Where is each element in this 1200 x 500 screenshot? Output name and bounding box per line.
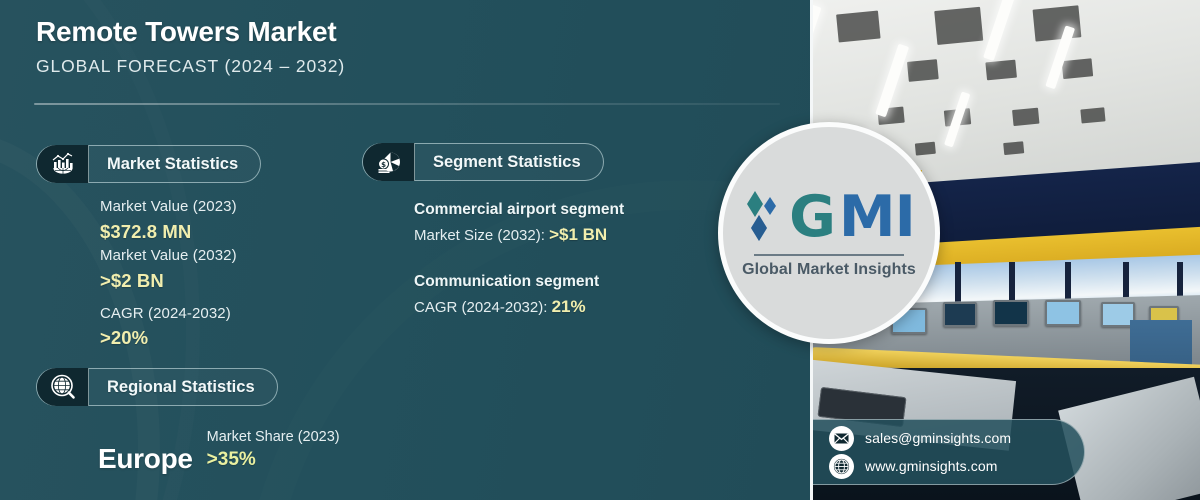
region-metric-group: Market Share (2023) >35%	[207, 428, 340, 473]
segment-metric-label: Market Size (2032):	[414, 227, 549, 244]
gmi-logo: G MI Global Market Insights	[718, 122, 940, 344]
contact-website: www.gminsights.com	[865, 458, 998, 474]
segment-heading: Communication segment	[414, 270, 774, 293]
logo-diamonds-icon	[743, 187, 785, 247]
badge-segment-statistics: $ Segment Statistics	[362, 143, 604, 181]
segment-metric-row: CAGR (2024-2032): 21%	[414, 293, 774, 322]
region-name: Europe	[98, 445, 193, 473]
logo-divider	[754, 254, 904, 256]
globe-magnifier-icon	[37, 368, 89, 406]
bar-chart-globe-icon	[37, 145, 89, 183]
page-title: Remote Towers Market	[36, 14, 776, 49]
pie-chart-money-icon: $	[363, 143, 415, 181]
console-monitor	[993, 300, 1029, 326]
contact-email: sales@gminsights.com	[865, 430, 1011, 446]
logo-letters-mi: MI	[839, 189, 915, 246]
contact-block: sales@gminsights.com www.gminsights.com	[813, 419, 1085, 485]
badge-regional-statistics: Regional Statistics	[36, 368, 278, 406]
region-metric-label: Market Share (2023)	[207, 428, 340, 448]
contact-website-row[interactable]: www.gminsights.com	[829, 454, 1084, 479]
logo-tagline: Global Market Insights	[742, 261, 916, 279]
stat-value: >$2 BN	[100, 268, 237, 295]
header-divider	[34, 103, 780, 105]
logo-wordmark: G MI	[743, 187, 915, 247]
console-monitor	[943, 302, 977, 327]
segment-metric-value: >$1 BN	[549, 225, 607, 244]
console-monitor	[1045, 300, 1081, 326]
badge-market-statistics: Market Statistics	[36, 145, 261, 183]
svg-text:$: $	[381, 161, 386, 169]
globe-icon	[829, 454, 854, 479]
envelope-icon	[829, 426, 854, 451]
contact-email-row[interactable]: sales@gminsights.com	[829, 426, 1084, 451]
stat-value: $372.8 MN	[100, 219, 237, 246]
segment-metric-label: CAGR (2024-2032):	[414, 299, 552, 316]
badge-segment-statistics-label: Segment Statistics	[415, 153, 603, 172]
stat-value: >20%	[100, 325, 237, 352]
market-statistics-list: Market Value (2023) $372.8 MN Market Val…	[100, 196, 237, 352]
segment-metric-value: 21%	[552, 297, 586, 316]
logo-letter-g: G	[789, 189, 835, 246]
stat-label: CAGR (2024-2032)	[100, 303, 237, 326]
badge-market-statistics-label: Market Statistics	[89, 155, 260, 174]
header: Remote Towers Market GLOBAL FORECAST (20…	[36, 14, 776, 77]
stat-label: Market Value (2023)	[100, 196, 237, 219]
regional-statistics-block: Europe Market Share (2023) >35%	[98, 428, 340, 473]
stat-label: Market Value (2032)	[100, 245, 237, 268]
infographic-root: Remote Towers Market GLOBAL FORECAST (20…	[0, 0, 1200, 500]
page-subtitle: GLOBAL FORECAST (2024 – 2032)	[36, 56, 776, 77]
badge-regional-statistics-label: Regional Statistics	[89, 378, 277, 397]
region-metric-value: >35%	[207, 448, 340, 473]
